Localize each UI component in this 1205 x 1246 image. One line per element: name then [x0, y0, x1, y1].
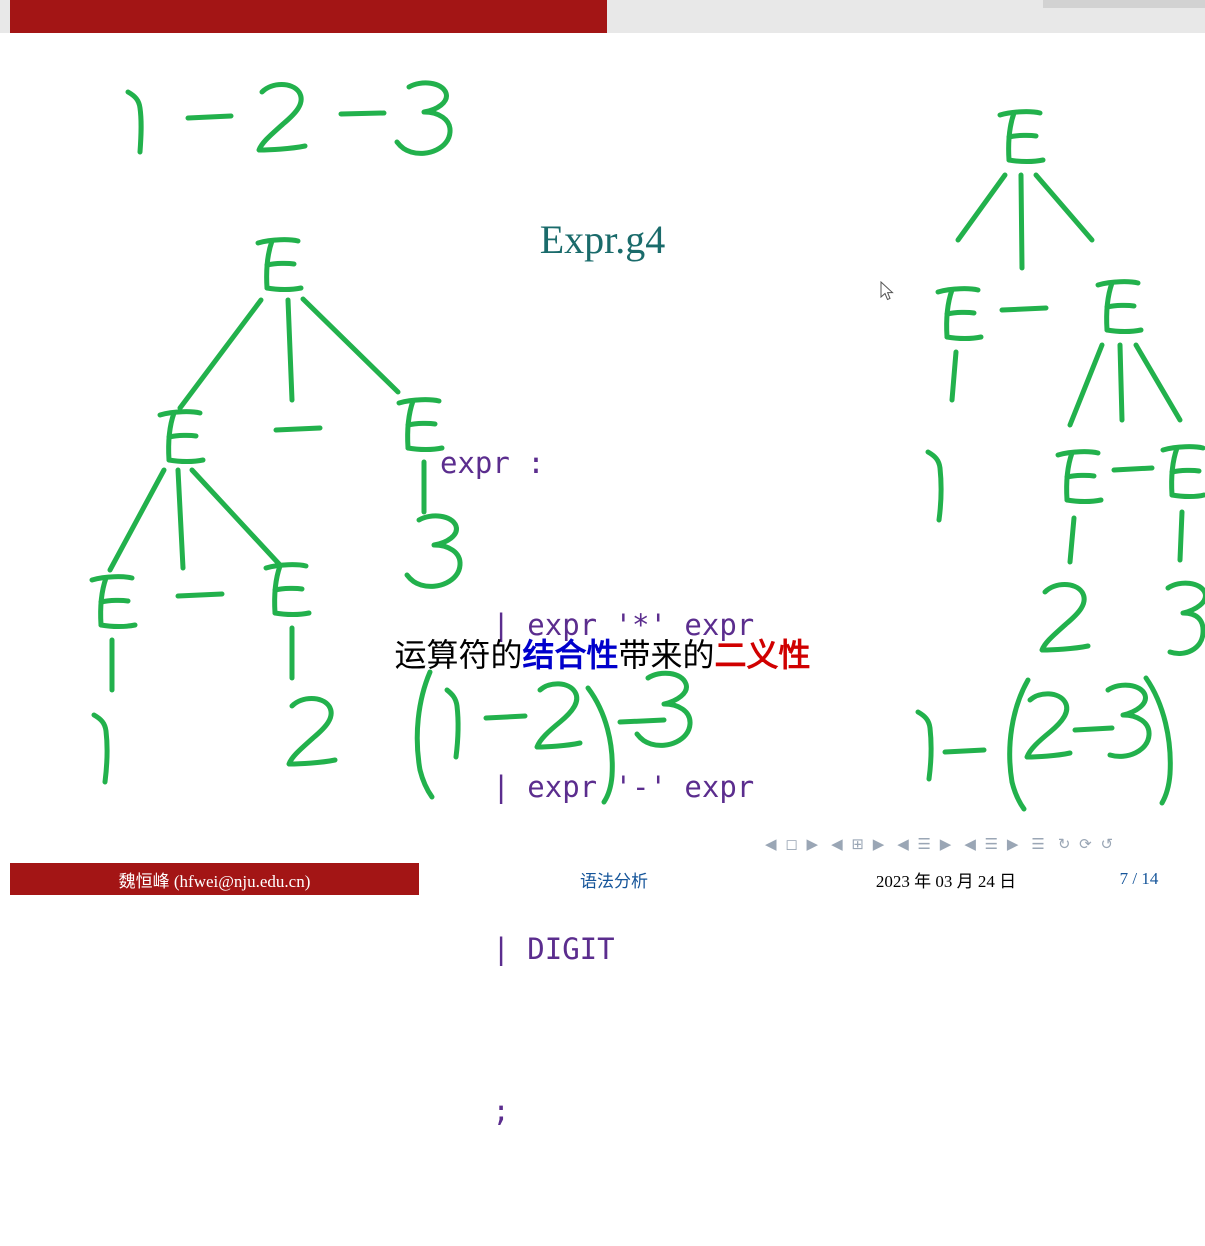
caption-pre: 运算符的: [394, 637, 522, 673]
beamer-footline: 魏恒峰 (hfwei@nju.edu.cn) 语法分析 2023 年 03 月 …: [0, 863, 1205, 895]
page-title: Expr.g4: [0, 216, 1205, 263]
caption-mid: 带来的: [619, 637, 715, 673]
nav-frame-group[interactable]: ◀ ⊞ ▶: [831, 835, 886, 853]
code-line-4: | DIGIT: [440, 922, 754, 976]
top-bar-accent-right: [1043, 0, 1205, 8]
grammar-code-block: expr : | expr '*' expr | expr '-' expr |…: [440, 328, 754, 1246]
nav-back-forward-group[interactable]: ↻ ⟳ ↺: [1058, 835, 1115, 853]
caption-red: 二义性: [715, 637, 811, 673]
footer-date: 2023 年 03 月 24 日: [809, 863, 1083, 895]
slide-caption: 运算符的结合性带来的二义性: [0, 630, 1205, 676]
top-bar-accent-left: [10, 0, 607, 33]
footer-section: 语法分析: [419, 863, 809, 895]
mouse-cursor-icon: [880, 281, 896, 303]
slide-body: Expr.g4 expr : | expr '*' expr | expr '-…: [0, 33, 1205, 863]
nav-subsection-group[interactable]: ◀ ☰ ▶: [897, 835, 953, 853]
code-line-5: ;: [440, 1084, 754, 1138]
footer-page-number: 7 / 14: [1083, 863, 1195, 895]
beamer-nav-symbols[interactable]: ◀ ◻ ▶ ◀ ⊞ ▶ ◀ ☰ ▶ ◀ ☰ ▶ ☰ ↻ ⟳ ↺: [765, 832, 1195, 856]
nav-slide-group[interactable]: ◀ ◻ ▶: [765, 835, 820, 853]
footer-author: 魏恒峰 (hfwei@nju.edu.cn): [10, 863, 419, 895]
code-line-1: expr :: [440, 436, 754, 490]
code-line-3: | expr '-' expr: [440, 760, 754, 814]
nav-section-group[interactable]: ◀ ☰ ▶: [964, 835, 1020, 853]
nav-doc-group[interactable]: ☰: [1031, 835, 1046, 853]
caption-blue: 结合性: [522, 637, 618, 673]
beamer-top-bar: [0, 0, 1205, 33]
